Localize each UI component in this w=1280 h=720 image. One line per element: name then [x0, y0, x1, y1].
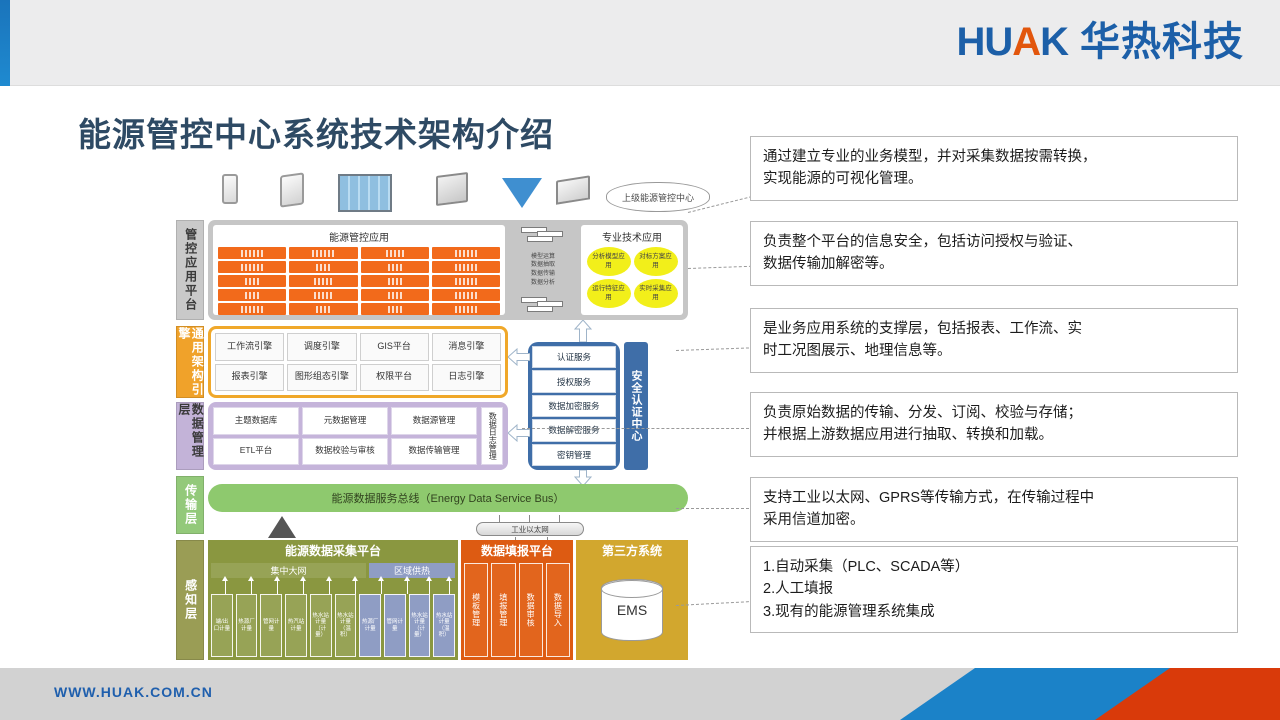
collection-platform-title: 能源数据采集平台 [208, 540, 458, 560]
industrial-ethernet-bar: 工业以太网 [476, 522, 584, 536]
ems-label: EMS [617, 602, 647, 618]
header-accent-stripe [0, 0, 10, 86]
app-block[interactable] [218, 247, 286, 259]
app-block[interactable] [218, 303, 286, 315]
upper-energy-center-node: 上级能源管控中心 [606, 182, 710, 212]
brand-wordmark-latin: HUAK [956, 22, 1068, 62]
callout-line: 支持工业以太网、GPRS等传输方式，在传输过程中 [763, 487, 1225, 509]
engine-cell-report[interactable]: 报表引擎 [215, 364, 284, 392]
brand-latin-accent: A [1012, 20, 1040, 64]
leader-line-4 [522, 428, 754, 429]
footer-swoosh-decoration [840, 668, 1280, 720]
callout-box-support-layer: 是业务应用系统的支撑层，包括报表、工作流、实 时工况图展示、地理信息等。 [750, 308, 1238, 373]
subheader-central-network[interactable]: 集中大网 [211, 563, 366, 578]
arrow-up-to-app-platform [574, 320, 592, 340]
app-block[interactable] [361, 261, 429, 273]
energy-data-service-bus: 能源数据服务总线（Energy Data Service Bus） [208, 484, 688, 512]
app-block-row [218, 289, 500, 301]
app-block-row [218, 247, 500, 259]
callout-line: 并根据上游数据应用进行抽取、转换和加载。 [763, 424, 1225, 446]
dm-cell-transmission[interactable]: 数据传输管理 [391, 438, 477, 466]
engine-cell-scheduler[interactable]: 调度引擎 [287, 333, 356, 361]
meter-box[interactable]: 端/出口计量 [211, 594, 233, 657]
professional-tech-app-title: 专业技术应用 [585, 228, 679, 247]
meter-box[interactable]: 管网计量 [384, 594, 406, 657]
mid-text-line: 模型运算 [531, 253, 555, 262]
callout-box-acquisition: 1.自动采集（PLC、SCADA等） 2.人工填报 3.现有的能源管理系统集成 [750, 546, 1238, 633]
data-management-row: ETL平台 数据校验与审核 数据传输管理 [213, 438, 477, 466]
layer-label-management-app: 管控应用平台 [176, 220, 204, 320]
callout-line: 时工况图展示、地理信息等。 [763, 340, 1225, 362]
app-block[interactable] [361, 247, 429, 259]
reporting-platform-body: 模板管理 填报管理 数据审核 数据导入 [461, 560, 573, 660]
callout-line: 3.现有的能源管理系统集成 [763, 601, 1225, 623]
brand-latin-part1: HU [956, 20, 1012, 64]
app-block-grid [218, 247, 500, 315]
page-title: 能源管控中心系统技术架构介绍 [78, 108, 554, 156]
third-party-system: 第三方系统 EMS [576, 540, 688, 660]
app-block[interactable] [218, 275, 286, 287]
security-item-encrypt[interactable]: 数据加密服务 [532, 395, 616, 417]
footer-bar: WWW.HUAK.COM.CN [0, 668, 1280, 720]
meter-box[interactable]: 热汽站计量 [285, 594, 307, 657]
upper-energy-center-label: 上级能源管控中心 [606, 182, 710, 212]
mid-text-line: 数据分析 [531, 279, 555, 288]
callout-line: 采用信道加密。 [763, 509, 1225, 531]
meter-box[interactable]: 热水站计量（计量） [409, 594, 431, 657]
app-block-row [218, 303, 500, 315]
reporting-col-fill[interactable]: 填报管理 [491, 563, 515, 657]
callout-line: 2.人工填报 [763, 578, 1225, 600]
callout-line: 负责原始数据的传输、分发、订阅、校验与存储； [763, 402, 1225, 424]
dm-cell-data-log[interactable]: 数据日志管理 [481, 407, 503, 465]
app-block[interactable] [289, 289, 357, 301]
security-service-stack: 认证服务 授权服务 数据加密服务 数据解密服务 密钥管理 [528, 342, 620, 470]
engine-cell-scada-hmi[interactable]: 图形组态引擎 [287, 364, 356, 392]
app-block-row [218, 275, 500, 287]
reporting-col-import[interactable]: 数据导入 [546, 563, 570, 657]
security-item-auth[interactable]: 认证服务 [532, 346, 616, 368]
engine-cell-gis[interactable]: GIS平台 [360, 333, 429, 361]
video-wall-icon [338, 174, 392, 212]
energy-data-collection-platform: 能源数据采集平台 集中大网 区域供热 [208, 540, 458, 660]
callout-box-transport: 支持工业以太网、GPRS等传输方式，在传输过程中 采用信道加密。 [750, 477, 1238, 542]
mid-text-line: 数据抽取 [531, 261, 555, 270]
professional-tech-app-panel: 专业技术应用 分析模型应用 对标方案应用 运行特征应用 实时采集应用 [581, 225, 683, 315]
app-block[interactable] [289, 303, 357, 315]
device-icon-row: 上级能源管控中心 [208, 172, 688, 220]
prof-app-oval[interactable]: 实时采集应用 [634, 279, 678, 308]
reporting-platform-title: 数据填报平台 [461, 540, 573, 560]
app-block-row [218, 261, 500, 273]
reporting-col-audit[interactable]: 数据审核 [519, 563, 543, 657]
prof-app-oval[interactable]: 运行特征应用 [587, 279, 631, 308]
engine-row: 工作流引擎 调度引擎 GIS平台 消息引擎 [215, 333, 501, 361]
data-reporting-platform: 数据填报平台 模板管理 填报管理 数据审核 数据导入 [461, 540, 573, 660]
stack-layers-icon [521, 227, 565, 243]
brand-logo: HUAK 华热科技 [956, 22, 1244, 62]
footer-website-url[interactable]: WWW.HUAK.COM.CN [54, 684, 213, 700]
app-block[interactable] [432, 247, 500, 259]
callout-line: 是业务应用系统的支撑层，包括报表、工作流、实 [763, 318, 1225, 340]
data-management-row: 主题数据库 元数据管理 数据源管理 [213, 407, 477, 435]
brand-wordmark-chinese: 华热科技 [1080, 22, 1244, 62]
reporting-col-template[interactable]: 模板管理 [464, 563, 488, 657]
callout-line: 实现能源的可视化管理。 [763, 168, 1225, 190]
perception-layer: 能源数据采集平台 集中大网 区域供热 [208, 540, 688, 660]
common-architecture-engine-panel: 工作流引擎 调度引擎 GIS平台 消息引擎 报表引擎 图形组态引擎 权限平台 日… [208, 326, 508, 398]
stack-layers-icon [521, 297, 565, 313]
security-item-authorize[interactable]: 授权服务 [532, 370, 616, 392]
security-center-side-label: 安全认证中心 [624, 342, 648, 470]
management-application-platform: 能源管控应用 [208, 220, 688, 320]
app-block[interactable] [361, 275, 429, 287]
callout-line: 1.自动采集（PLC、SCADA等） [763, 556, 1225, 578]
engine-row: 报表引擎 图形组态引擎 权限平台 日志引擎 [215, 364, 501, 392]
layer-label-data-management: 数据管理层 [176, 402, 204, 470]
energy-management-app-title: 能源管控应用 [218, 228, 500, 247]
app-block[interactable] [289, 247, 357, 259]
dm-cell-validation[interactable]: 数据校验与审核 [302, 438, 388, 466]
app-block[interactable] [361, 303, 429, 315]
arrow-left-to-data-mgmt [508, 424, 530, 444]
meter-box[interactable]: 热源厂计量 [359, 594, 381, 657]
meter-box[interactable]: 管网计量 [260, 594, 282, 657]
leader-line-2 [688, 266, 752, 269]
meter-row: 端/出口计量 热源厂计量 管网计量 热汽站计量 热水站计量（计量） 热水站计量（… [211, 594, 455, 657]
engine-cell-permission[interactable]: 权限平台 [360, 364, 429, 392]
collection-arrow-row [211, 578, 455, 594]
triangle-down-icon [502, 178, 542, 208]
app-block[interactable] [432, 275, 500, 287]
dm-cell-etl[interactable]: ETL平台 [213, 438, 299, 466]
collection-platform-body: 集中大网 区域供热 端/出口计量 热源厂计量 [208, 560, 458, 660]
dm-cell-datasource[interactable]: 数据源管理 [391, 407, 477, 435]
third-party-title: 第三方系统 [576, 540, 688, 560]
mid-text-line: 数据传输 [531, 270, 555, 279]
app-block[interactable] [432, 261, 500, 273]
meter-box[interactable]: 热水站计量（温积） [433, 594, 455, 657]
callout-line: 负责整个平台的信息安全，包括访问授权与验证、 [763, 231, 1225, 253]
meter-box[interactable]: 热水站计量（计量） [310, 594, 332, 657]
laptop-icon [556, 178, 590, 202]
callout-line: 通过建立专业的业务模型，并对采集数据按需转换， [763, 146, 1225, 168]
app-block[interactable] [218, 261, 286, 273]
third-party-body: EMS [576, 560, 688, 660]
app-block[interactable] [361, 289, 429, 301]
industrial-ethernet-label: 工业以太网 [511, 524, 549, 535]
security-item-decrypt[interactable]: 数据解密服务 [532, 419, 616, 441]
layer-label-perception: 感知层 [176, 540, 204, 660]
dm-cell-metadata[interactable]: 元数据管理 [302, 407, 388, 435]
app-block[interactable] [432, 303, 500, 315]
callout-box-security: 负责整个平台的信息安全，包括访问授权与验证、 数据传输加解密等。 [750, 221, 1238, 286]
engine-cell-workflow[interactable]: 工作流引擎 [215, 333, 284, 361]
callout-line: 数据传输加解密等。 [763, 253, 1225, 275]
leader-line-5 [676, 508, 754, 509]
architecture-diagram: 管控应用平台 通用架构引擎 数据管理层 传输层 感知层 上级能源管控中心 能源管… [176, 172, 688, 662]
callout-box-raw-data: 负责原始数据的传输、分发、订阅、校验与存储； 并根据上游数据应用进行抽取、转换和… [750, 392, 1238, 457]
arrow-left-to-arch-engine [508, 348, 530, 368]
app-block[interactable] [218, 289, 286, 301]
app-platform-middle-text: 模型运算 数据抽取 数据传输 数据分析 [531, 253, 555, 288]
desktop-icon [436, 174, 468, 204]
security-authentication-center: 认证服务 授权服务 数据加密服务 数据解密服务 密钥管理 安全认证中心 [528, 342, 648, 470]
security-item-key-manage[interactable]: 密钥管理 [532, 444, 616, 466]
dm-cell-subject-db[interactable]: 主题数据库 [213, 407, 299, 435]
prof-app-oval[interactable]: 分析模型应用 [587, 247, 631, 276]
layer-label-transport: 传输层 [176, 476, 204, 534]
data-management-panel: 主题数据库 元数据管理 数据源管理 ETL平台 数据校验与审核 数据传输管理 数… [208, 402, 508, 470]
ems-database-icon[interactable]: EMS [601, 579, 663, 641]
tablet-icon [280, 174, 304, 206]
header-bar: HUAK 华热科技 [0, 0, 1280, 86]
callout-box-business-model: 通过建立专业的业务模型，并对采集数据按需转换， 实现能源的可视化管理。 [750, 136, 1238, 201]
app-platform-middle-connector: 模型运算 数据抽取 数据传输 数据分析 [509, 225, 577, 315]
prof-app-oval[interactable]: 对标方案应用 [634, 247, 678, 276]
meter-box[interactable]: 热源厂计量 [236, 594, 258, 657]
app-block[interactable] [432, 289, 500, 301]
meter-box[interactable]: 热水站计量（温积） [335, 594, 357, 657]
app-block[interactable] [289, 275, 357, 287]
layer-label-common-arch: 通用架构引擎 [176, 326, 204, 398]
engine-cell-message[interactable]: 消息引擎 [432, 333, 501, 361]
energy-management-app-panel: 能源管控应用 [213, 225, 505, 315]
app-block[interactable] [289, 261, 357, 273]
brand-latin-part2: K [1040, 20, 1068, 64]
professional-app-oval-grid: 分析模型应用 对标方案应用 运行特征应用 实时采集应用 [585, 247, 679, 308]
phone-icon [222, 174, 238, 204]
data-management-grid: 主题数据库 元数据管理 数据源管理 ETL平台 数据校验与审核 数据传输管理 [213, 407, 477, 465]
engine-cell-log[interactable]: 日志引擎 [432, 364, 501, 392]
